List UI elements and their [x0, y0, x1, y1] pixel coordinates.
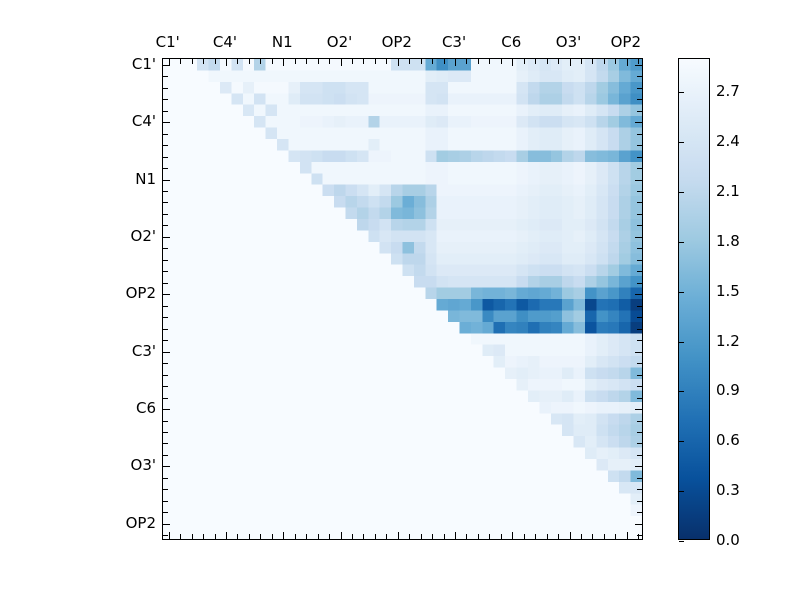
axis-tick [432, 534, 433, 539]
x-tick-label: O3' [556, 33, 581, 51]
axis-tick [638, 59, 639, 64]
axis-tick [637, 363, 642, 364]
axis-tick [163, 157, 168, 158]
axis-tick [163, 248, 168, 249]
axis-tick [329, 59, 330, 64]
axis-tick [163, 225, 168, 226]
axis-tick [637, 386, 642, 387]
axis-tick [635, 65, 642, 66]
axis-tick [637, 478, 642, 479]
axis-tick [163, 88, 168, 89]
axis-tick [637, 225, 642, 226]
axis-tick [637, 157, 642, 158]
axis-tick [163, 340, 168, 341]
axis-tick [203, 534, 204, 539]
colorbar-gradient [679, 59, 709, 539]
axis-tick [163, 512, 168, 513]
colorbar-tick-label: 0.6 [716, 431, 740, 449]
axis-tick [272, 59, 273, 64]
axis-tick [352, 534, 353, 539]
axis-tick [163, 306, 168, 307]
axis-tick [163, 489, 168, 490]
axis-tick [237, 534, 238, 539]
axis-tick [283, 532, 284, 539]
axis-tick [295, 59, 296, 64]
axis-tick [409, 534, 410, 539]
axis-tick [635, 466, 642, 467]
axis-tick [637, 134, 642, 135]
axis-tick [272, 534, 273, 539]
axis-tick [421, 534, 422, 539]
axis-tick [386, 534, 387, 539]
axis-tick [512, 59, 513, 66]
axis-tick [501, 534, 502, 539]
x-tick-label: C3' [442, 33, 466, 51]
axis-tick [637, 202, 642, 203]
axis-tick [180, 534, 181, 539]
axis-tick [163, 283, 168, 284]
colorbar-tick-label: 1.5 [716, 282, 740, 300]
y-tick-label: N1 [108, 170, 156, 188]
axis-tick [163, 455, 168, 456]
axis-tick [637, 248, 642, 249]
axis-tick [163, 237, 170, 238]
axis-tick [163, 122, 170, 123]
axis-tick [398, 532, 399, 539]
axis-tick [444, 534, 445, 539]
axis-tick [570, 59, 571, 66]
axis-tick [637, 432, 642, 433]
axis-tick [637, 329, 642, 330]
axis-tick [163, 145, 168, 146]
x-tick-label: OP2 [611, 33, 641, 51]
colorbar-tick-label: 1.8 [716, 232, 740, 250]
axis-tick [163, 501, 168, 502]
axis-tick [466, 534, 467, 539]
colorbar-tick-label: 0.3 [716, 481, 740, 499]
axis-tick [295, 534, 296, 539]
axis-tick [637, 306, 642, 307]
axis-tick [169, 532, 170, 539]
colorbar-tick [679, 292, 684, 293]
axis-tick [163, 65, 170, 66]
axis-tick [163, 386, 168, 387]
axis-tick [637, 317, 642, 318]
axis-tick [260, 534, 261, 539]
colorbar-tick-label: 1.2 [716, 332, 740, 350]
axis-tick [163, 76, 168, 77]
axis-tick [489, 534, 490, 539]
axis-tick [466, 59, 467, 64]
axis-tick [637, 535, 642, 536]
axis-tick [163, 294, 170, 295]
axis-tick [637, 271, 642, 272]
axis-tick [386, 59, 387, 64]
axis-tick [192, 59, 193, 64]
axis-tick [635, 352, 642, 353]
axis-tick [558, 534, 559, 539]
y-tick-label: C3' [108, 342, 156, 360]
y-tick-label: O2' [108, 227, 156, 245]
axis-tick [163, 329, 168, 330]
colorbar-tick [679, 142, 684, 143]
axis-tick [637, 99, 642, 100]
axis-tick [637, 489, 642, 490]
axis-tick [421, 59, 422, 64]
y-tick-label: O3' [108, 456, 156, 474]
colorbar-tick-label: 0.9 [716, 381, 740, 399]
axis-tick [163, 409, 170, 410]
axis-tick [215, 534, 216, 539]
axis-tick [637, 191, 642, 192]
axis-tick [635, 122, 642, 123]
axis-tick [249, 534, 250, 539]
axis-tick [398, 59, 399, 66]
axis-tick [637, 398, 642, 399]
axis-tick [604, 59, 605, 64]
axis-tick [163, 99, 168, 100]
x-tick-label: C1' [156, 33, 180, 51]
axis-tick [635, 524, 642, 525]
axis-tick [163, 363, 168, 364]
axis-tick [478, 534, 479, 539]
figure-canvas: C1'C4'N1O2'OP2C3'C6O3'OP2 C1'C4'N1O2'OP2… [0, 0, 800, 600]
axis-tick [163, 375, 168, 376]
axis-tick [341, 59, 342, 66]
axis-tick [163, 134, 168, 135]
x-tick-label: C6 [501, 33, 521, 51]
axis-tick [444, 59, 445, 64]
colorbar-tick [679, 491, 684, 492]
axis-tick [163, 535, 168, 536]
axis-tick [306, 534, 307, 539]
x-tick-label: OP2 [382, 33, 412, 51]
axis-tick [163, 466, 170, 467]
axis-tick [318, 534, 319, 539]
axis-tick [341, 532, 342, 539]
axis-tick [180, 59, 181, 64]
axis-tick [306, 59, 307, 64]
y-tick-label: C4' [108, 112, 156, 130]
axis-tick [637, 443, 642, 444]
colorbar-tick-label: 2.7 [716, 82, 740, 100]
axis-tick [547, 59, 548, 64]
axis-tick [215, 59, 216, 64]
axis-tick [163, 317, 168, 318]
colorbar-tick [679, 342, 684, 343]
axis-tick [478, 59, 479, 64]
axis-tick [329, 534, 330, 539]
colorbar-tick [679, 242, 684, 243]
colorbar-tick-label: 0.0 [716, 531, 740, 549]
axis-tick [226, 59, 227, 66]
axis-tick [635, 409, 642, 410]
axis-tick [363, 534, 364, 539]
axis-tick [535, 59, 536, 64]
axis-tick [592, 534, 593, 539]
axis-tick [512, 532, 513, 539]
axis-tick [637, 501, 642, 502]
axis-tick [163, 180, 170, 181]
axis-tick [637, 168, 642, 169]
colorbar-tick [679, 192, 684, 193]
axis-tick [637, 88, 642, 89]
colorbar-tick [679, 92, 684, 93]
y-tick-label: OP2 [108, 284, 156, 302]
axis-tick [163, 191, 168, 192]
axis-tick [637, 260, 642, 261]
axis-tick [637, 421, 642, 422]
y-tick-label: C1' [108, 55, 156, 73]
axis-tick [455, 59, 456, 66]
axis-tick [637, 76, 642, 77]
axis-tick [192, 534, 193, 539]
colorbar-axes [678, 58, 710, 540]
axis-tick [637, 375, 642, 376]
axis-tick [363, 59, 364, 64]
axis-tick [249, 59, 250, 64]
axis-tick [637, 111, 642, 112]
colorbar-tick [679, 541, 684, 542]
x-tick-label: N1 [272, 33, 293, 51]
axis-tick [163, 168, 168, 169]
axis-tick [163, 398, 168, 399]
axis-tick [637, 214, 642, 215]
colorbar-tick-label: 2.1 [716, 182, 740, 200]
axis-tick [635, 180, 642, 181]
axis-tick [375, 534, 376, 539]
axis-tick [226, 532, 227, 539]
axis-tick [163, 111, 168, 112]
axis-tick [615, 534, 616, 539]
axis-tick [163, 432, 168, 433]
colorbar-tick [679, 441, 684, 442]
axis-tick [592, 59, 593, 64]
axis-tick [163, 478, 168, 479]
axis-tick [581, 59, 582, 64]
axis-tick [432, 59, 433, 64]
axis-tick [163, 271, 168, 272]
axis-tick [489, 59, 490, 64]
axis-tick [163, 214, 168, 215]
axis-tick [375, 59, 376, 64]
axis-tick [558, 59, 559, 64]
axis-tick [627, 59, 628, 66]
axis-tick [163, 524, 170, 525]
x-tick-label: O2' [327, 33, 352, 51]
axis-tick [570, 532, 571, 539]
axis-tick [283, 59, 284, 66]
axis-tick [637, 340, 642, 341]
y-tick-label: OP2 [108, 514, 156, 532]
axis-tick [615, 59, 616, 64]
axis-tick [581, 534, 582, 539]
axis-tick [637, 283, 642, 284]
axis-tick [524, 59, 525, 64]
axis-tick [637, 455, 642, 456]
axis-tick [163, 421, 168, 422]
axis-tick [604, 534, 605, 539]
axis-tick [547, 534, 548, 539]
axis-tick [524, 534, 525, 539]
axis-tick [260, 59, 261, 64]
axis-tick [409, 59, 410, 64]
axis-tick [637, 512, 642, 513]
colorbar-tick-label: 2.4 [716, 132, 740, 150]
axis-tick [203, 59, 204, 64]
axis-tick [352, 59, 353, 64]
axis-tick [163, 260, 168, 261]
axis-tick [637, 145, 642, 146]
axis-tick [163, 352, 170, 353]
axis-tick [455, 532, 456, 539]
axis-tick [627, 532, 628, 539]
y-axis-tick-labels: C1'C4'N1O2'OP2C3'C6O3'OP2 [104, 0, 156, 600]
colorbar-tick [679, 391, 684, 392]
axis-tick [163, 443, 168, 444]
axis-tick [237, 59, 238, 64]
axis-tick [318, 59, 319, 64]
y-tick-label: C6 [108, 399, 156, 417]
x-tick-label: C4' [213, 33, 237, 51]
axis-tick [635, 294, 642, 295]
axis-tick [163, 202, 168, 203]
heatmap-axes [162, 58, 643, 540]
axis-tick [635, 237, 642, 238]
heatmap-image [163, 59, 642, 539]
axis-tick [535, 534, 536, 539]
axis-tick [501, 59, 502, 64]
